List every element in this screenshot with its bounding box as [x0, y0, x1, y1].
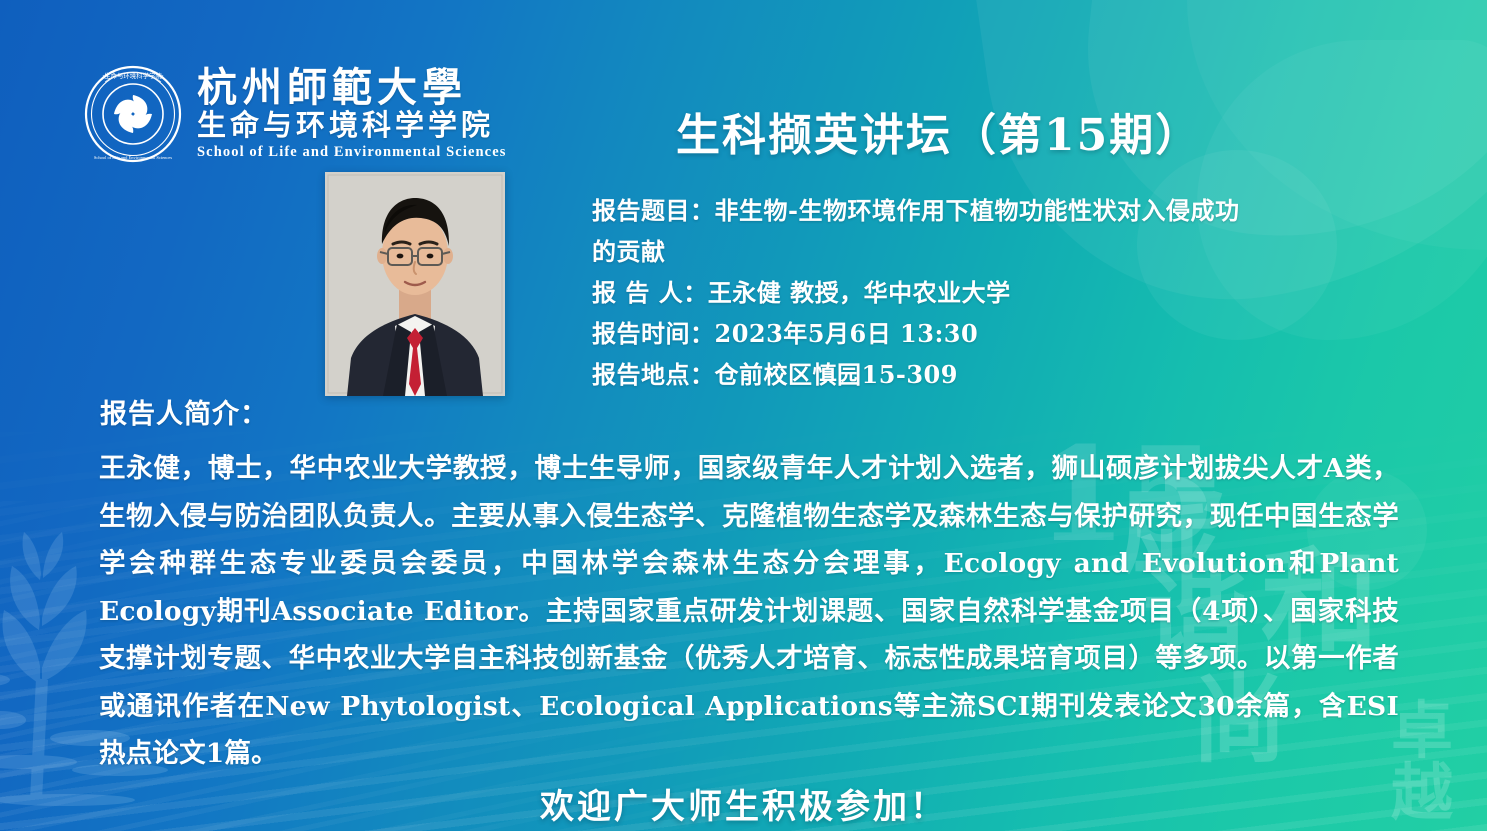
speaker-photo — [325, 172, 505, 396]
page-title: 生科撷英讲坛（第15期） — [676, 99, 1201, 163]
university-wordmark: 杭州師範大學 生命与环境科学学院 School of Life and Envi… — [197, 67, 506, 161]
svg-text:·生命与环境科学学院·: ·生命与环境科学学院· — [102, 71, 164, 80]
svg-text:School of Life and Environment: School of Life and Environmental Science… — [94, 155, 173, 160]
info-time: 报告时间：2023年5月6日 13:30 — [592, 313, 1392, 354]
info-topic-line1: 报告题目：非生物-生物环境作用下植物功能性状对入侵成功 — [592, 190, 1392, 231]
seminar-info: 报告题目：非生物-生物环境作用下植物功能性状对入侵成功 的贡献 报 告 人：王永… — [592, 190, 1392, 395]
info-venue: 报告地点：仓前校区慎园15-309 — [592, 354, 1392, 395]
info-speaker: 报 告 人：王永健 教授，华中农业大学 — [592, 272, 1392, 313]
bio-heading: 报告人简介： — [100, 392, 268, 431]
university-name-cn: 杭州師範大學 — [197, 67, 506, 108]
portrait-illustration — [325, 172, 505, 396]
college-name-en: School of Life and Environmental Science… — [197, 144, 506, 161]
college-name-cn: 生命与环境科学学院 — [197, 108, 506, 142]
university-logo: ·生命与环境科学学院· School of Life and Environme… — [83, 64, 506, 164]
info-topic-line2: 的贡献 — [592, 231, 1392, 272]
watermark-zhuo: 卓 — [1391, 700, 1453, 762]
seminar-poster: 15 虚 谐 和 尚 卓 越 ·生命与环境科学学院· School of Lif… — [0, 0, 1487, 831]
university-seal-icon: ·生命与环境科学学院· School of Life and Environme… — [83, 64, 183, 164]
footer-cta: 欢迎广大师生积极参加！ — [0, 779, 1487, 828]
bio-text: 王永健，博士，华中农业大学教授，博士生导师，国家级青年人才计划入选者，狮山硕彦计… — [99, 445, 1399, 778]
